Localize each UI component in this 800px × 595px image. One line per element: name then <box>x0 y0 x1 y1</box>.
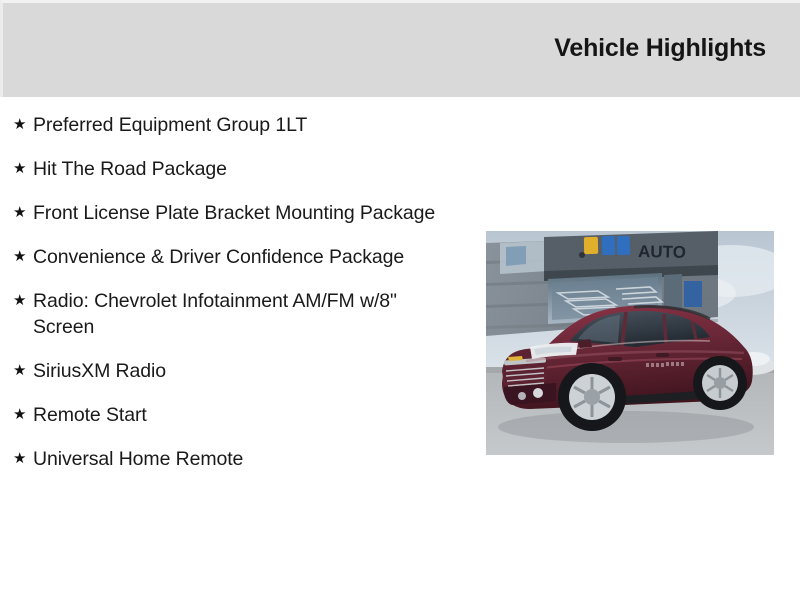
page-header: Vehicle Highlights <box>0 0 800 97</box>
page-title: Vehicle Highlights <box>554 34 800 67</box>
list-item: ★ Hit The Road Package <box>0 156 462 182</box>
highlight-label: Remote Start <box>33 402 454 428</box>
star-bullet-icon: ★ <box>13 112 33 138</box>
highlight-label: Convenience & Driver Confidence Package <box>33 244 454 270</box>
vehicle-highlights-list: ★ Preferred Equipment Group 1LT ★ Hit Th… <box>0 97 462 490</box>
star-bullet-icon: ★ <box>13 358 33 384</box>
list-item: ★ Radio: Chevrolet Infotainment AM/FM w/… <box>0 288 462 340</box>
star-bullet-icon: ★ <box>13 200 33 226</box>
rear-wheel <box>693 356 747 410</box>
highlight-label: Hit The Road Package <box>33 156 454 182</box>
highlight-label: Radio: Chevrolet Infotainment AM/FM w/8"… <box>33 288 454 340</box>
list-item: ★ Universal Home Remote <box>0 446 462 472</box>
list-item: ★ Front License Plate Bracket Mounting P… <box>0 200 462 226</box>
list-item: ★ SiriusXM Radio <box>0 358 462 384</box>
star-bullet-icon: ★ <box>13 288 33 314</box>
highlight-label: Front License Plate Bracket Mounting Pac… <box>33 200 454 226</box>
vehicle-photo: AUTO <box>486 231 774 455</box>
front-wheel <box>558 363 626 431</box>
highlight-label: SiriusXM Radio <box>33 358 454 384</box>
list-item: ★ Remote Start <box>0 402 462 428</box>
star-bullet-icon: ★ <box>13 446 33 472</box>
svg-text:AUTO: AUTO <box>638 242 686 262</box>
star-bullet-icon: ★ <box>13 156 33 182</box>
list-item: ★ Preferred Equipment Group 1LT <box>0 112 462 138</box>
vehicle-photo-image: AUTO <box>486 231 774 455</box>
star-bullet-icon: ★ <box>13 244 33 270</box>
highlight-label: Preferred Equipment Group 1LT <box>33 112 454 138</box>
highlight-label: Universal Home Remote <box>33 446 454 472</box>
star-bullet-icon: ★ <box>13 402 33 428</box>
list-item: ★ Convenience & Driver Confidence Packag… <box>0 244 462 270</box>
